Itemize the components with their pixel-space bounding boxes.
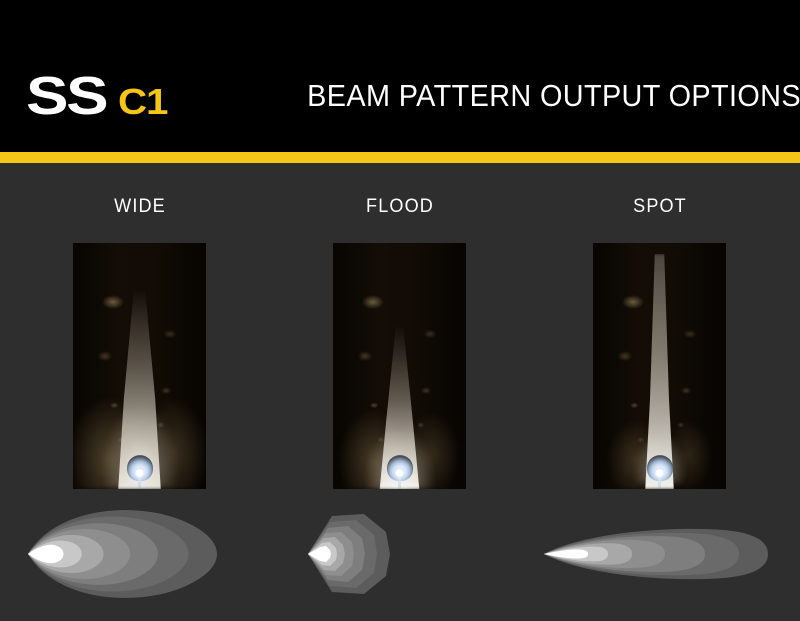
beam-photo-wide — [73, 243, 206, 489]
beam-pattern-svg-spot — [540, 508, 780, 600]
beam-option-label-wide: WIDE — [26, 196, 254, 218]
beam-side-spill-wide — [73, 339, 206, 489]
beam-pattern-infographic: SS C1 BEAM PATTERN OUTPUT OPTIONS WIDE — [0, 0, 800, 621]
logo-text-secondary: C1 — [118, 84, 167, 120]
beam-pattern-svg-wide — [20, 508, 260, 600]
beam-pattern-svg-flood — [280, 508, 520, 600]
beam-photo-flood — [333, 243, 466, 489]
beam-core — [308, 546, 331, 562]
beam-photo-spot — [593, 243, 726, 489]
beam-option-flood: FLOOD — [280, 170, 520, 610]
beam-side-spill-spot — [593, 369, 726, 489]
beam-side-spill-flood — [333, 359, 466, 489]
brand-logo: SS C1 — [26, 69, 162, 121]
beam-option-label-spot: SPOT — [546, 196, 774, 218]
beam-option-spot: SPOT — [540, 170, 780, 610]
beam-pattern-diagram-spot — [540, 508, 780, 600]
beam-pattern-diagram-flood — [280, 508, 520, 600]
header-bar: SS C1 BEAM PATTERN OUTPUT OPTIONS — [0, 0, 800, 152]
page-title: BEAM PATTERN OUTPUT OPTIONS — [307, 78, 763, 114]
logo-text-primary: SS — [26, 69, 106, 123]
beam-option-wide: WIDE — [20, 170, 260, 610]
beam-pattern-diagram-wide — [20, 508, 260, 600]
accent-divider — [0, 152, 800, 163]
beam-option-label-flood: FLOOD — [286, 196, 514, 218]
